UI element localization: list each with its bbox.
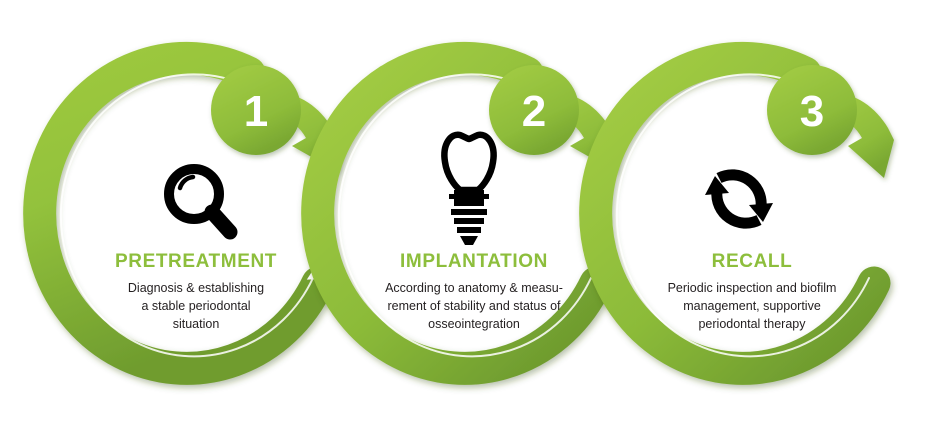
step-2-title: IMPLANTATION xyxy=(369,252,579,272)
infographic-svg: 1 2 xyxy=(0,0,940,425)
step-3-description: Periodic inspection and biofilm manageme… xyxy=(647,279,857,333)
step-3-desc-line-3: periodontal therapy xyxy=(698,317,805,331)
step-3-title: RECALL xyxy=(647,252,857,272)
step-3-flow-arrowhead xyxy=(838,150,852,165)
step-2-badge-number: 2 xyxy=(522,87,546,136)
step-1-description: Diagnosis & establishing a stable period… xyxy=(91,279,301,333)
step-1-desc-line-2: a stable periodontal xyxy=(141,299,250,313)
step-2-top-flow-arrowhead xyxy=(470,86,484,99)
step-1-badge-number: 1 xyxy=(244,87,268,136)
step-3-flow-arc xyxy=(846,158,862,230)
step-2-description: According to anatomy & measu- rement of … xyxy=(369,279,579,333)
step-1-title: PRETREATMENT xyxy=(91,252,301,272)
step-1-desc-line-1: Diagnosis & establishing xyxy=(128,281,264,295)
step-3-desc-line-2: management, supportive xyxy=(683,299,821,313)
step-2-desc-line-1: According to anatomy & measu- xyxy=(385,281,563,295)
step-3-text-block: RECALL Periodic inspection and biofilm m… xyxy=(647,252,857,333)
step-1-desc-line-3: situation xyxy=(173,317,220,331)
step-1-text-block: PRETREATMENT Diagnosis & establishing a … xyxy=(91,252,301,333)
step-2-desc-line-2: rement of stability and status of xyxy=(387,299,560,313)
step-3-desc-line-1: Periodic inspection and biofilm xyxy=(668,281,837,295)
step-2-desc-line-3: osseointegration xyxy=(428,317,520,331)
infographic-canvas: 1 2 xyxy=(0,0,940,425)
magnifier-icon xyxy=(169,169,230,232)
step-2-text-block: IMPLANTATION According to anatomy & meas… xyxy=(369,252,579,333)
cycle-refresh-icon xyxy=(705,175,773,223)
step-3-badge-number: 3 xyxy=(800,87,824,136)
dental-implant-icon xyxy=(444,135,493,245)
